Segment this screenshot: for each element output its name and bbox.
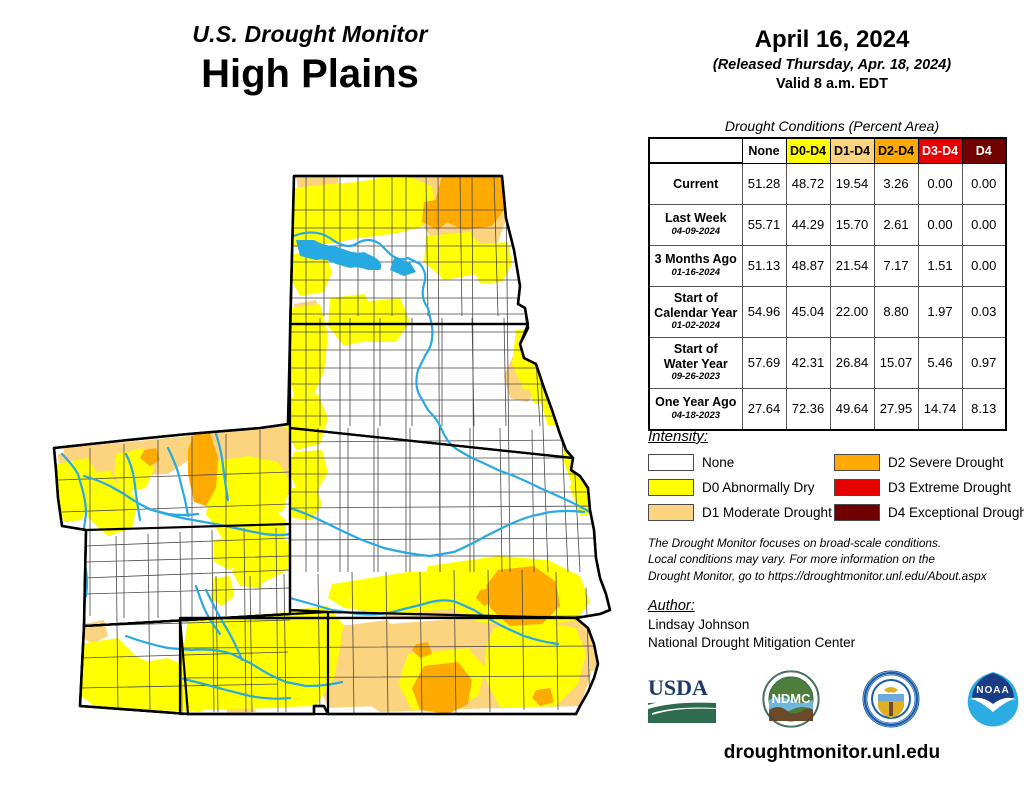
cell-d3-d4: 0.00 [918, 163, 962, 204]
partner-logos: USDA NDMC [646, 668, 1024, 734]
noaa-logo[interactable]: NOAA [962, 670, 1024, 733]
legend-item-d0: D0 Abnormally Dry [648, 475, 834, 500]
table-row: One Year Ago04-18-202327.6472.3649.6427.… [649, 388, 1006, 430]
table-row: Start ofWater Year09-26-202357.6942.3126… [649, 337, 1006, 388]
row-date: 04-09-2024 [652, 227, 740, 238]
cell-d2-d4: 2.61 [874, 204, 918, 245]
author-label: Author: [648, 598, 1024, 614]
cell-none: 57.69 [742, 337, 786, 388]
table-row: Current51.2848.7219.543.260.000.00 [649, 163, 1006, 204]
disclaimer-line-3: Drought Monitor, go to https://droughtmo… [648, 568, 1024, 584]
cell-d3-d4: 0.00 [918, 204, 962, 245]
cell-d4: 0.03 [962, 286, 1006, 337]
map-svg [28, 158, 640, 772]
table-header-row: None D0-D4 D1-D4 D2-D4 D3-D4 D4 [649, 138, 1006, 163]
cell-d4: 0.00 [962, 163, 1006, 204]
legend-label-d2: D2 Severe Drought [888, 455, 1004, 470]
column-header-d3: D3-D4 [918, 138, 962, 163]
table-row: Last Week04-09-202455.7144.2915.702.610.… [649, 204, 1006, 245]
cell-none: 27.64 [742, 388, 786, 430]
table-row: Start ofCalendar Year01-02-202454.9645.0… [649, 286, 1006, 337]
region-title: High Plains [0, 51, 620, 97]
cell-d3-d4: 14.74 [918, 388, 962, 430]
legend-item-d4: D4 Exceptional Drought [834, 500, 1020, 525]
cell-d4: 0.97 [962, 337, 1006, 388]
cell-d3-d4: 5.46 [918, 337, 962, 388]
cell-d4: 0.00 [962, 245, 1006, 286]
cell-none: 55.71 [742, 204, 786, 245]
website-url[interactable]: droughtmonitor.unl.edu [640, 742, 1024, 764]
legend-label-d3: D3 Extreme Drought [888, 480, 1011, 495]
info-panel: April 16, 2024 (Released Thursday, Apr. … [640, 0, 1024, 791]
svg-text:USDA: USDA [648, 675, 708, 700]
product-name: U.S. Drought Monitor [0, 22, 620, 47]
legend-item-none: None [648, 450, 834, 475]
author-name: Lindsay Johnson [648, 616, 1024, 634]
row-label: One Year Ago04-18-2023 [649, 388, 742, 430]
table-body: Current51.2848.7219.543.260.000.00Last W… [649, 163, 1006, 430]
column-header-d1: D1-D4 [830, 138, 874, 163]
disclaimer-line-2: Local conditions may vary. For more info… [648, 551, 1024, 567]
cell-d4: 8.13 [962, 388, 1006, 430]
row-date: 01-02-2024 [652, 321, 740, 332]
cell-d0-d4: 44.29 [786, 204, 830, 245]
cell-d0-d4: 48.87 [786, 245, 830, 286]
legend-swatch-none [648, 454, 694, 471]
cell-d1-d4: 22.00 [830, 286, 874, 337]
legend-item-d1: D1 Moderate Drought [648, 500, 834, 525]
legend-item-d2: D2 Severe Drought [834, 450, 1020, 475]
row-date: 04-18-2023 [652, 411, 740, 422]
intensity-legend: Intensity: NoneD2 Severe DroughtD0 Abnor… [648, 428, 1020, 525]
cell-none: 51.28 [742, 163, 786, 204]
cell-d3-d4: 1.97 [918, 286, 962, 337]
legend-swatch-d2 [834, 454, 880, 471]
disclaimer-text: The Drought Monitor focuses on broad-sca… [648, 535, 1024, 584]
table-row: 3 Months Ago01-16-202451.1348.8721.547.1… [649, 245, 1006, 286]
cell-d0-d4: 72.36 [786, 388, 830, 430]
column-header-d4: D4 [962, 138, 1006, 163]
cell-d3-d4: 1.51 [918, 245, 962, 286]
cell-d0-d4: 48.72 [786, 163, 830, 204]
row-label: Current [649, 163, 742, 204]
svg-text:NOAA: NOAA [976, 685, 1009, 696]
row-label: Start ofWater Year09-26-2023 [649, 337, 742, 388]
legend-label-none: None [702, 455, 734, 470]
cell-d2-d4: 7.17 [874, 245, 918, 286]
cell-d2-d4: 27.95 [874, 388, 918, 430]
author-organization: National Drought Mitigation Center [648, 634, 1024, 652]
cell-d2-d4: 8.80 [874, 286, 918, 337]
cell-none: 54.96 [742, 286, 786, 337]
drought-monitor-page: U.S. Drought Monitor High Plains [0, 0, 1024, 791]
cell-none: 51.13 [742, 245, 786, 286]
row-date: 09-26-2023 [652, 372, 740, 383]
cell-d2-d4: 3.26 [874, 163, 918, 204]
legend-label-d4: D4 Exceptional Drought [888, 505, 1024, 520]
cell-d4: 0.00 [962, 204, 1006, 245]
valid-time: Valid 8 a.m. EDT [640, 75, 1024, 94]
legend-label-d1: D1 Moderate Drought [702, 505, 832, 520]
legend-swatch-d4 [834, 504, 880, 521]
legend-title: Intensity: [648, 428, 1020, 445]
row-label: 3 Months Ago01-16-2024 [649, 245, 742, 286]
row-date: 01-16-2024 [652, 268, 740, 279]
disclaimer-line-1: The Drought Monitor focuses on broad-sca… [648, 535, 1024, 551]
svg-text:NDMC: NDMC [772, 691, 812, 706]
row-label: Start ofCalendar Year01-02-2024 [649, 286, 742, 337]
released-date: (Released Thursday, Apr. 18, 2024) [640, 56, 1024, 75]
cell-d0-d4: 42.31 [786, 337, 830, 388]
cell-d0-d4: 45.04 [786, 286, 830, 337]
drought-conditions-table: None D0-D4 D1-D4 D2-D4 D3-D4 D4 Current5… [648, 137, 1008, 431]
legend-item-d3: D3 Extreme Drought [834, 475, 1020, 500]
column-header-none: None [742, 138, 786, 163]
table-corner-cell [649, 138, 742, 163]
page-title: U.S. Drought Monitor High Plains [0, 22, 620, 97]
legend-grid: NoneD2 Severe DroughtD0 Abnormally DryD3… [648, 450, 1020, 525]
legend-swatch-d3 [834, 479, 880, 496]
legend-label-d0: D0 Abnormally Dry [702, 480, 815, 495]
table-caption: Drought Conditions (Percent Area) [640, 118, 1024, 134]
author-block: Author: Lindsay Johnson National Drought… [648, 598, 1024, 652]
valid-date: April 16, 2024 [640, 26, 1024, 54]
cell-d1-d4: 19.54 [830, 163, 874, 204]
date-block: April 16, 2024 (Released Thursday, Apr. … [640, 26, 1024, 94]
cell-d1-d4: 21.54 [830, 245, 874, 286]
cell-d1-d4: 15.70 [830, 204, 874, 245]
usda-seal-logo[interactable] [862, 670, 920, 733]
legend-swatch-d1 [648, 504, 694, 521]
legend-swatch-d0 [648, 479, 694, 496]
cell-d2-d4: 15.07 [874, 337, 918, 388]
ndmc-logo[interactable]: NDMC [762, 670, 820, 733]
column-header-d0: D0-D4 [786, 138, 830, 163]
cell-d1-d4: 49.64 [830, 388, 874, 430]
drought-map[interactable] [28, 158, 640, 772]
column-header-d2: D2-D4 [874, 138, 918, 163]
row-label: Last Week04-09-2024 [649, 204, 742, 245]
cell-d1-d4: 26.84 [830, 337, 874, 388]
usda-logo[interactable]: USDA [646, 673, 720, 730]
